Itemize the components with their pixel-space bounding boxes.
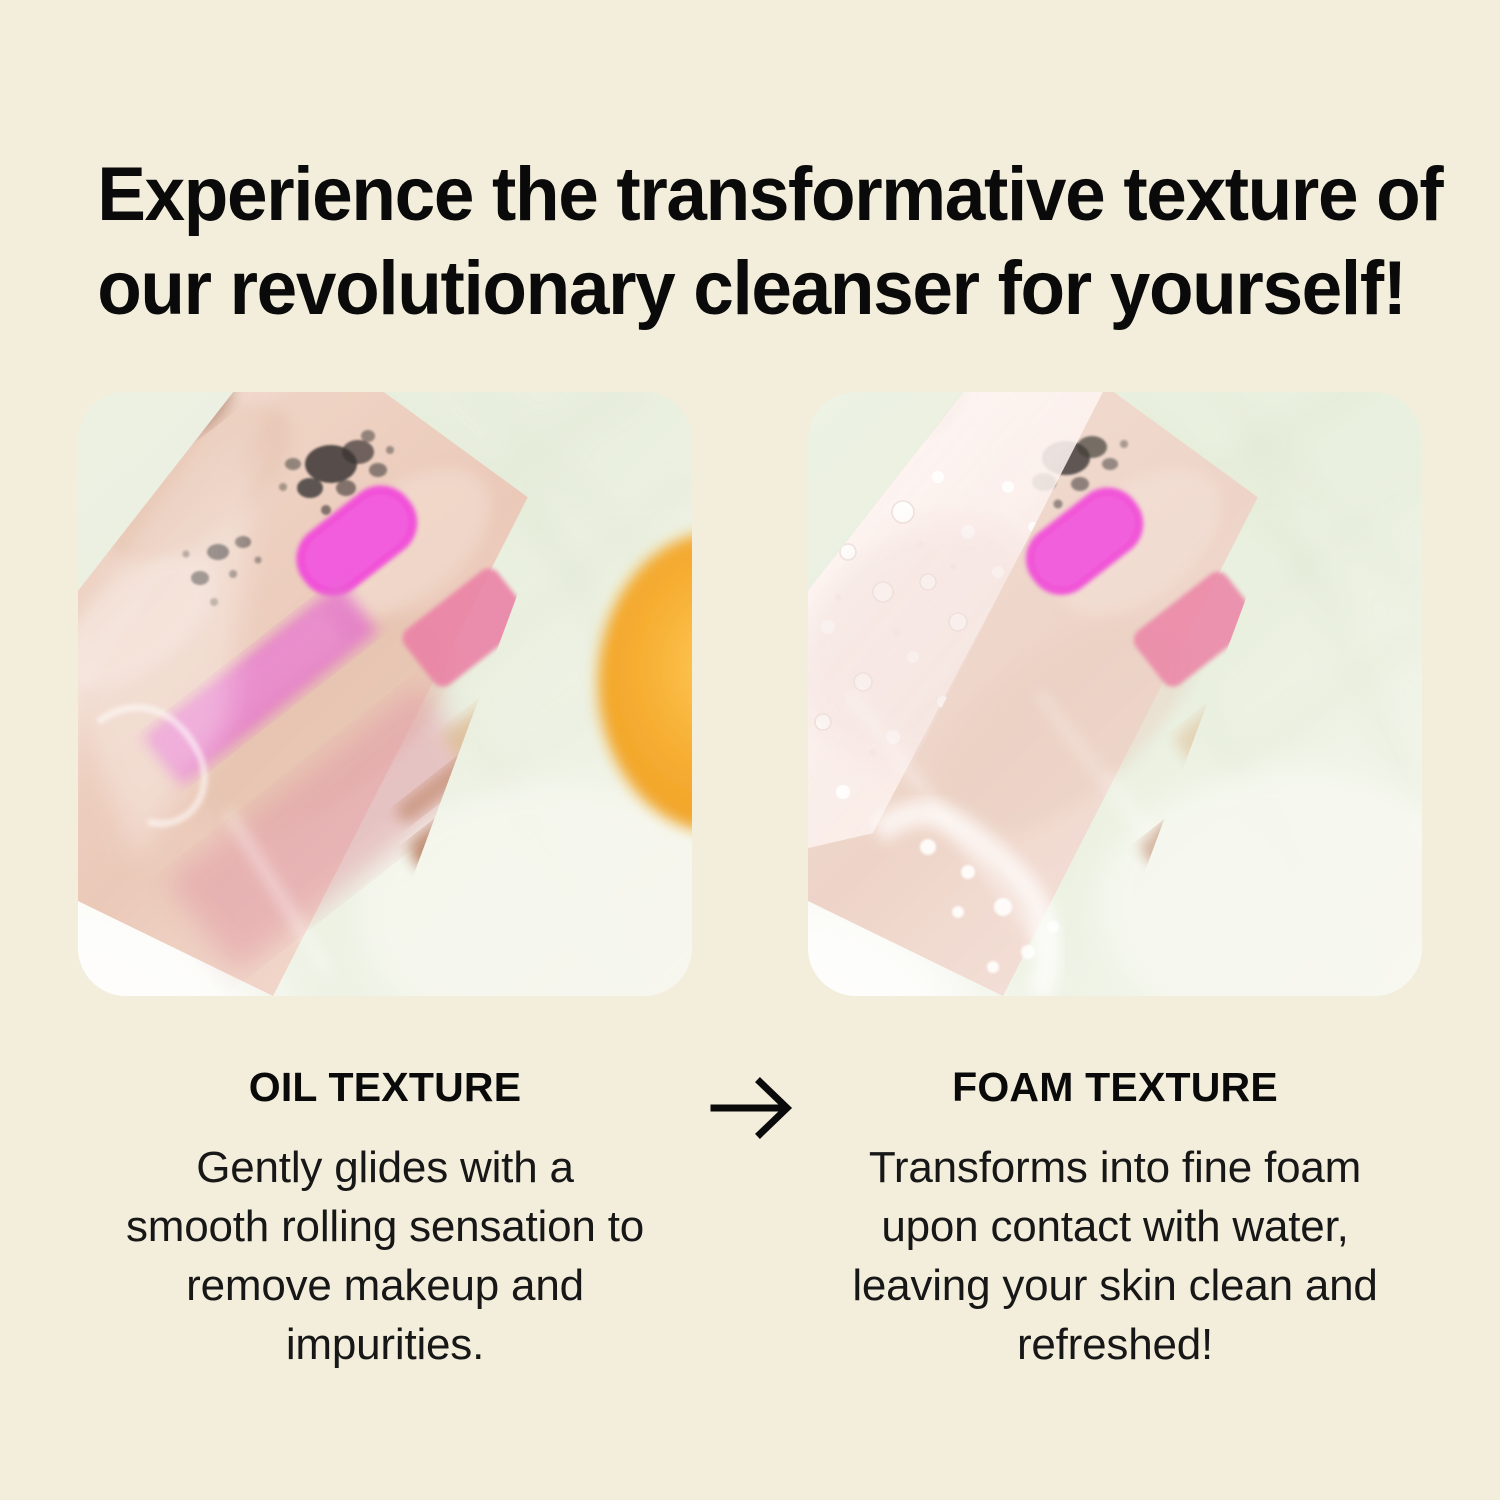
caption-foam: FOAM TEXTURE Transforms into fine foam u… (795, 1062, 1435, 1374)
caption-body-foam: Transforms into fine foam upon contact w… (795, 1138, 1435, 1374)
oil-texture-photo (78, 392, 692, 996)
caption-row: OIL TEXTURE Gently glides with a smooth … (0, 1062, 1500, 1442)
headline-line-1: Experience the transformative texture of (97, 148, 1403, 242)
headline-line-2: our revolutionary cleanser for yourself! (97, 242, 1403, 336)
comparison-row (0, 392, 1500, 996)
caption-title-foam: FOAM TEXTURE (795, 1062, 1435, 1112)
caption-body-foam-line-1: Transforms into fine foam (795, 1138, 1435, 1197)
caption-body-oil-line-4: impurities. (65, 1315, 705, 1374)
caption-body-oil-line-1: Gently glides with a (65, 1138, 705, 1197)
foam-texture-photo (808, 392, 1422, 996)
caption-body-foam-line-4: refreshed! (795, 1315, 1435, 1374)
caption-body-foam-line-3: leaving your skin clean and (795, 1256, 1435, 1315)
caption-body-oil: Gently glides with a smooth rolling sens… (65, 1138, 705, 1374)
caption-oil: OIL TEXTURE Gently glides with a smooth … (65, 1062, 705, 1374)
caption-body-oil-line-2: smooth rolling sensation to (65, 1197, 705, 1256)
caption-title-oil: OIL TEXTURE (65, 1062, 705, 1112)
page-title: Experience the transformative texture of… (97, 148, 1403, 336)
promo-page: Experience the transformative texture of… (0, 0, 1500, 1500)
caption-body-foam-line-2: upon contact with water, (795, 1197, 1435, 1256)
caption-body-oil-line-3: remove makeup and (65, 1256, 705, 1315)
